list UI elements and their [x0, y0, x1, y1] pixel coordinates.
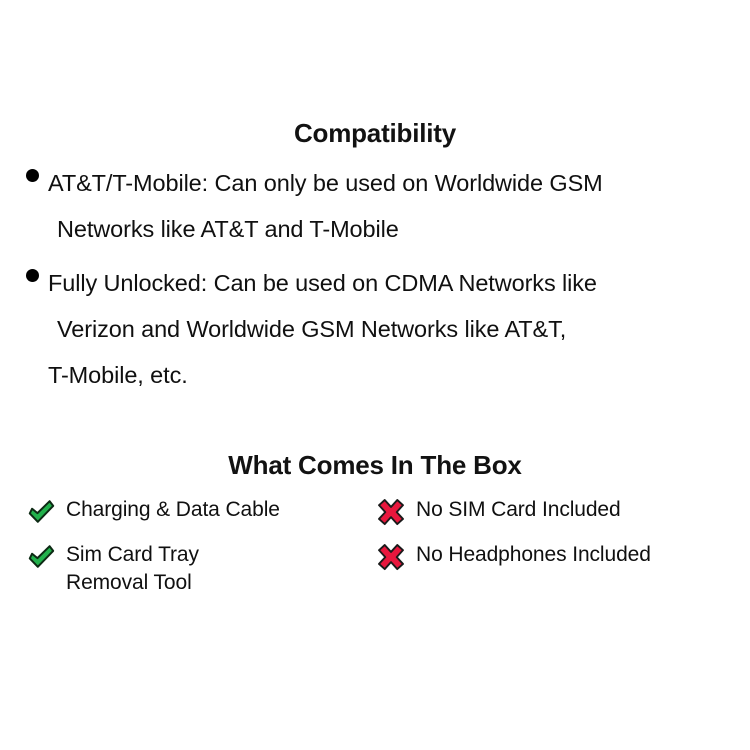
- list-item: AT&T/T-Mobile: Can only be used on World…: [26, 160, 732, 252]
- product-info-page: Compatibility AT&T/T-Mobile: Can only be…: [0, 0, 750, 750]
- box-contents-grid: Charging & Data Cable Sim Card Tray Remo…: [0, 496, 750, 611]
- included-item-line1: Charging & Data Cable: [66, 498, 280, 521]
- list-item: No Headphones Included: [376, 541, 750, 572]
- not-included-item-label: No Headphones Included: [416, 541, 750, 569]
- red-x-icon: [376, 542, 406, 572]
- red-x-icon: [376, 497, 406, 527]
- compatibility-item-line1: Fully Unlocked: Can be used on CDMA Netw…: [48, 270, 597, 296]
- compatibility-heading: Compatibility: [0, 118, 750, 149]
- not-included-item-line1: No Headphones Included: [416, 543, 651, 566]
- list-item: Charging & Data Cable: [26, 496, 370, 527]
- list-item: No SIM Card Included: [376, 496, 750, 527]
- green-check-icon: [26, 497, 56, 527]
- compatibility-item-line1: AT&T/T-Mobile: Can only be used on World…: [48, 170, 603, 196]
- bullet-dot-icon: [26, 169, 39, 182]
- included-items-column: Charging & Data Cable Sim Card Tray Remo…: [0, 496, 370, 611]
- compatibility-item-text: AT&T/T-Mobile: Can only be used on World…: [48, 160, 732, 252]
- included-item-line2: Removal Tool: [66, 569, 370, 597]
- included-item-label: Charging & Data Cable: [66, 496, 370, 524]
- compatibility-item-text: Fully Unlocked: Can be used on CDMA Netw…: [48, 260, 732, 398]
- included-item-label: Sim Card Tray Removal Tool: [66, 541, 370, 597]
- not-included-item-line1: No SIM Card Included: [416, 498, 621, 521]
- list-item: Sim Card Tray Removal Tool: [26, 541, 370, 597]
- included-item-line1: Sim Card Tray: [66, 543, 199, 566]
- list-item: Fully Unlocked: Can be used on CDMA Netw…: [26, 260, 732, 398]
- not-included-item-label: No SIM Card Included: [416, 496, 750, 524]
- box-contents-heading: What Comes In The Box: [0, 450, 750, 481]
- bullet-dot-icon: [26, 269, 39, 282]
- compatibility-item-line3: T-Mobile, etc.: [48, 352, 732, 398]
- compatibility-item-line2: Verizon and Worldwide GSM Networks like …: [48, 306, 732, 352]
- compatibility-list: AT&T/T-Mobile: Can only be used on World…: [26, 160, 732, 406]
- green-check-icon: [26, 542, 56, 572]
- not-included-items-column: No SIM Card Included No Headphones Inclu…: [370, 496, 750, 611]
- compatibility-item-line2: Networks like AT&T and T-Mobile: [48, 206, 732, 252]
